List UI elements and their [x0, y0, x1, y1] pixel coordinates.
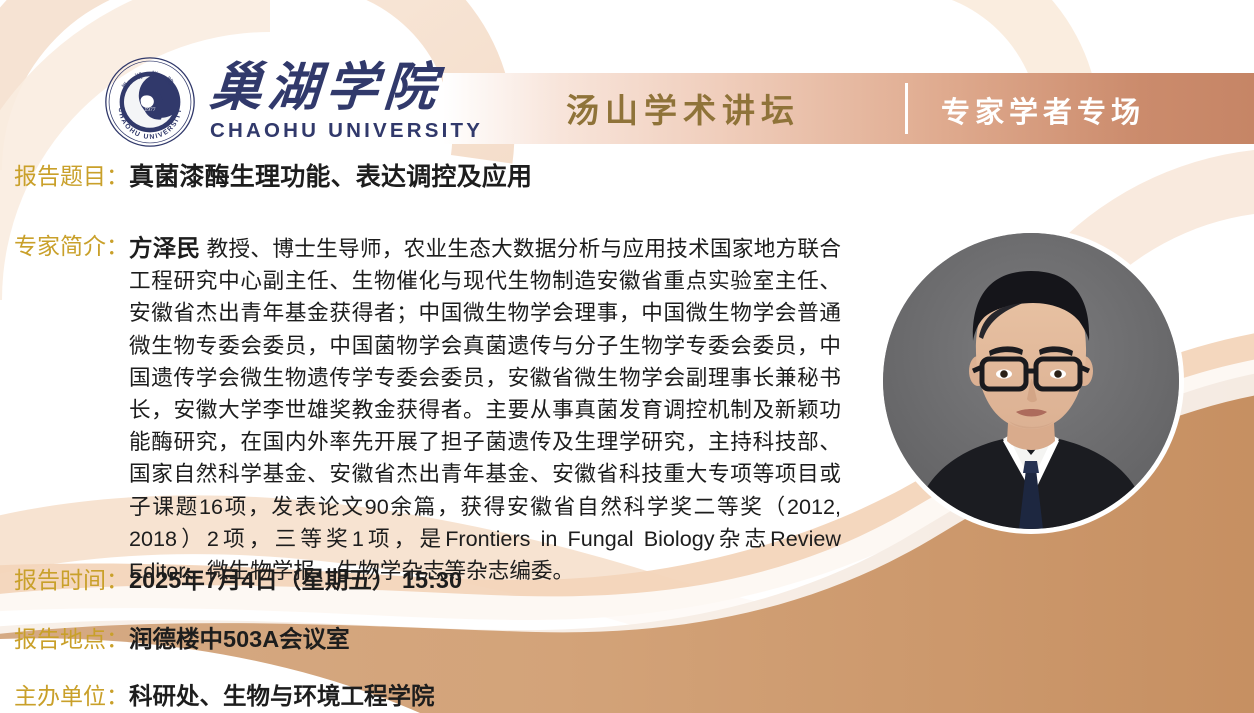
row-report-time: 报告时间： 2025年7月4日（星期五） 15:30	[14, 566, 462, 595]
report-time-label: 报告时间：	[14, 566, 129, 594]
report-title-value: 真菌漆酶生理功能、表达调控及应用	[129, 162, 532, 193]
row-host-unit: 主办单位： 科研处、生物与环境工程学院	[14, 682, 435, 711]
speaker-bio-text: 教授、博士生导师，农业生态大数据分析与应用技术国家地方联合工程研究中心副主任、生…	[129, 236, 841, 583]
row-speaker-bio: 专家简介： 方泽民 教授、博士生导师，农业生态大数据分析与应用技术国家地方联合工…	[14, 232, 854, 587]
poster-root: 1977 CHAOHU UNIVERSITY 巢湖学院 巢湖学院 CHAOHU …	[0, 0, 1254, 713]
row-report-title: 报告题目： 真菌漆酶生理功能、表达调控及应用	[14, 162, 532, 193]
report-time-value: 2025年7月4日（星期五） 15:30	[129, 566, 462, 595]
row-report-place: 报告地点： 润德楼中503A会议室	[14, 625, 350, 654]
host-unit-label: 主办单位：	[14, 682, 129, 710]
content: 报告题目： 真菌漆酶生理功能、表达调控及应用 专家简介： 方泽民 教授、博士生导…	[0, 0, 1254, 713]
speaker-name: 方泽民	[129, 235, 200, 261]
speaker-bio-value: 方泽民 教授、博士生导师，农业生态大数据分析与应用技术国家地方联合工程研究中心副…	[129, 232, 841, 587]
speaker-bio-label: 专家简介：	[14, 232, 129, 260]
report-place-label: 报告地点：	[14, 625, 129, 653]
report-title-label: 报告题目：	[14, 162, 129, 190]
report-place-value: 润德楼中503A会议室	[129, 625, 350, 654]
host-unit-value: 科研处、生物与环境工程学院	[129, 682, 435, 711]
